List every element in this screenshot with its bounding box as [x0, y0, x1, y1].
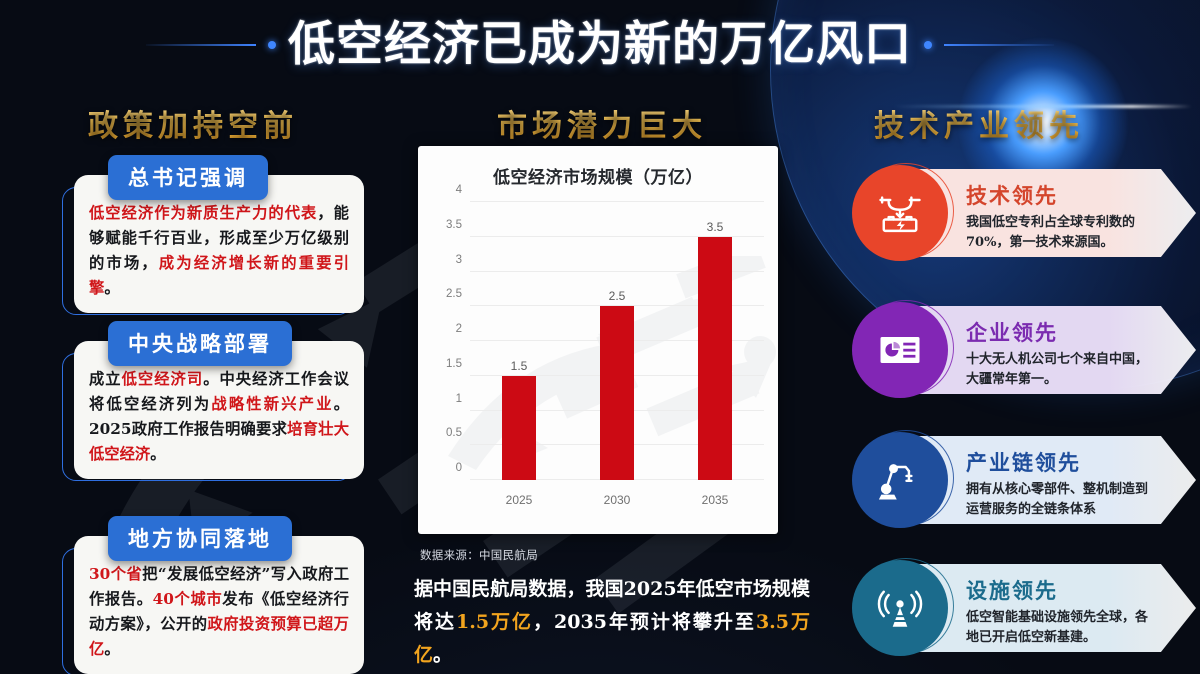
bar-value-label: 2.5 — [587, 289, 647, 303]
policy-card: 总书记强调 低空经济作为新质生产力的代表，能够赋能千行百业，形成至少万亿级别的市… — [74, 175, 364, 313]
tech-item-title: 技术领先 — [966, 180, 1152, 210]
chart-title: 低空经济市场规模（万亿） — [418, 163, 778, 188]
x-axis-tick-label: 2030 — [582, 493, 652, 507]
y-axis-tick-label: 3.5 — [446, 219, 462, 231]
policy-card-text: 30个省把“发展低空经济”写入政府工作报告。40个城市发布《低空经济行动方案》，… — [89, 562, 349, 662]
bar-value-label: 3.5 — [685, 220, 745, 234]
title-dot-left — [268, 41, 276, 49]
y-axis-tick-label: 4 — [456, 184, 462, 196]
y-axis-tick-label: 3 — [456, 254, 462, 266]
title-rule-left — [146, 44, 256, 46]
tech-item[interactable]: 设施领先 低空智能基础设施领先全球，各地已开启低空新基建。 — [846, 558, 1196, 658]
chart-plot-area: 00.511.522.533.54 1.520252.520303.52035 — [470, 202, 764, 480]
report-chart-icon — [852, 302, 948, 398]
chart-bar: 2.52030 — [600, 306, 634, 480]
policy-card-text: 低空经济作为新质生产力的代表，能够赋能千行百业，形成至少万亿级别的市场，成为经济… — [89, 201, 349, 301]
y-axis-tick-label: 0 — [456, 462, 462, 474]
tech-item-title: 企业领先 — [966, 317, 1152, 347]
title-rule-right — [944, 44, 1054, 46]
y-axis-tick-label: 0.5 — [446, 427, 462, 439]
policy-card: 地方协同落地 30个省把“发展低空经济”写入政府工作报告。40个城市发布《低空经… — [74, 536, 364, 674]
x-axis-tick-label: 2035 — [680, 493, 750, 507]
gridline — [470, 201, 764, 202]
market-size-chart: 低空经济市场规模（万亿） 00.511.522.533.54 — [418, 146, 778, 534]
y-axis-tick-label: 1.5 — [446, 358, 462, 370]
chart-bar: 1.52025 — [502, 376, 536, 480]
policy-card-badge: 总书记强调 — [108, 155, 268, 200]
chart-source-note: 数据来源：中国民航局 — [420, 547, 538, 563]
bar-value-label: 1.5 — [489, 359, 549, 373]
tech-item-title: 产业链领先 — [966, 447, 1152, 477]
infographic-root: 低空经济已成为新的万亿风口 政策加持空前 市场潜力巨大 技术产业领先 总书记强调… — [0, 0, 1200, 674]
x-axis-tick-label: 2025 — [484, 493, 554, 507]
y-axis-tick-label: 1 — [456, 393, 462, 405]
tech-item[interactable]: 技术领先 我国低空专利占全球专利数的70%，第一技术来源国。 — [846, 163, 1196, 263]
title-bar: 低空经济已成为新的万亿风口 — [0, 14, 1200, 76]
page-title: 低空经济已成为新的万亿风口 — [288, 14, 912, 76]
chart-bar: 3.52035 — [698, 237, 732, 480]
section-heading-policy: 政策加持空前 — [88, 101, 298, 145]
policy-card-badge: 地方协同落地 — [108, 516, 292, 561]
tech-item[interactable]: 产业链领先 拥有从核心零部件、整机制造到运营服务的全链条体系 — [846, 430, 1196, 530]
tech-item-desc: 我国低空专利占全球专利数的70%，第一技术来源国。 — [966, 213, 1152, 253]
tech-item[interactable]: 企业领先 十大无人机公司七个来自中国，大疆常年第一。 — [846, 300, 1196, 400]
drone-battery-icon — [852, 165, 948, 261]
policy-card-badge: 中央战略部署 — [108, 321, 292, 366]
title-dot-right — [924, 41, 932, 49]
policy-card: 中央战略部署 成立低空经济司。中央经济工作会议将低空经济列为战略性新兴产业。20… — [74, 341, 364, 479]
tech-item-desc: 低空智能基础设施领先全球，各地已开启低空新基建。 — [966, 608, 1152, 648]
section-heading-market: 市场潜力巨大 — [497, 101, 707, 145]
tech-item-desc: 拥有从核心零部件、整机制造到运营服务的全链条体系 — [966, 480, 1152, 520]
tech-item-desc: 十大无人机公司七个来自中国，大疆常年第一。 — [966, 350, 1152, 390]
policy-card-text: 成立低空经济司。中央经济工作会议将低空经济列为战略性新兴产业。2025政府工作报… — [89, 367, 349, 467]
robot-arm-icon — [852, 432, 948, 528]
tech-item-title: 设施领先 — [966, 575, 1152, 605]
y-axis-tick-label: 2 — [456, 323, 462, 335]
antenna-tower-icon — [852, 560, 948, 656]
section-heading-technology: 技术产业领先 — [874, 101, 1084, 145]
y-axis-tick-label: 2.5 — [446, 288, 462, 300]
market-summary-text: 据中国民航局数据，我国2025年低空市场规模将达1.5万亿，2035年预计将攀升… — [414, 573, 810, 672]
